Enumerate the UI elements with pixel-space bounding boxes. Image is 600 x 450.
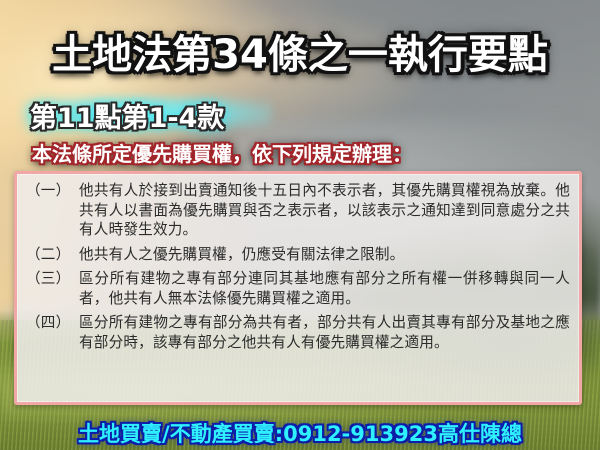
clause-number: （一） — [26, 181, 79, 201]
slide-subtitle-group: 第11點第1-4款 — [30, 96, 224, 135]
slide-lead-sentence: 本法條所定優先購買權，依下列規定辦理： — [32, 138, 412, 167]
clause-number: （四） — [26, 313, 79, 333]
clause-body: 他共有人於接到出賣通知後十五日內不表示者，其優先購買權視為放棄。他共有人以書面為… — [79, 181, 570, 240]
clause-body: 他共有人之優先購買權，仍應受有關法律之限制。 — [79, 245, 570, 265]
slide-subtitle: 第11點第1-4款 — [30, 96, 224, 135]
clause-body: 區分所有建物之專有部分為共有者，部分共有人出賣其專有部分及基地之應有部分時，該專… — [79, 313, 570, 352]
clause-body: 區分所有建物之專有部分連同其基地應有部分之所有權一併移轉與同一人者，他共有人無本… — [79, 269, 570, 308]
clause-number: （二） — [26, 245, 79, 265]
slide-title: 土地法第34條之一執行要點 — [0, 22, 600, 80]
clause-item: （一） 他共有人於接到出賣通知後十五日內不表示者，其優先購買權視為放棄。他共有人… — [26, 181, 570, 240]
presentation-slide: 土地法第34條之一執行要點 第11點第1-4款 本法條所定優先購買權，依下列規定… — [0, 0, 600, 450]
contact-footer: 土地買賣/不動產買賣:0912-913923高仕陳總 — [0, 418, 600, 448]
slide-content-layer: 土地法第34條之一執行要點 第11點第1-4款 本法條所定優先購買權，依下列規定… — [0, 0, 600, 450]
clause-item: （四） 區分所有建物之專有部分為共有者，部分共有人出賣其專有部分及基地之應有部分… — [26, 313, 570, 352]
clause-list-box: （一） 他共有人於接到出賣通知後十五日內不表示者，其優先購買權視為放棄。他共有人… — [14, 171, 582, 405]
clause-item: （三） 區分所有建物之專有部分連同其基地應有部分之所有權一併移轉與同一人者，他共… — [26, 269, 570, 308]
clause-item: （二） 他共有人之優先購買權，仍應受有關法律之限制。 — [26, 245, 570, 265]
clause-number: （三） — [26, 269, 79, 289]
